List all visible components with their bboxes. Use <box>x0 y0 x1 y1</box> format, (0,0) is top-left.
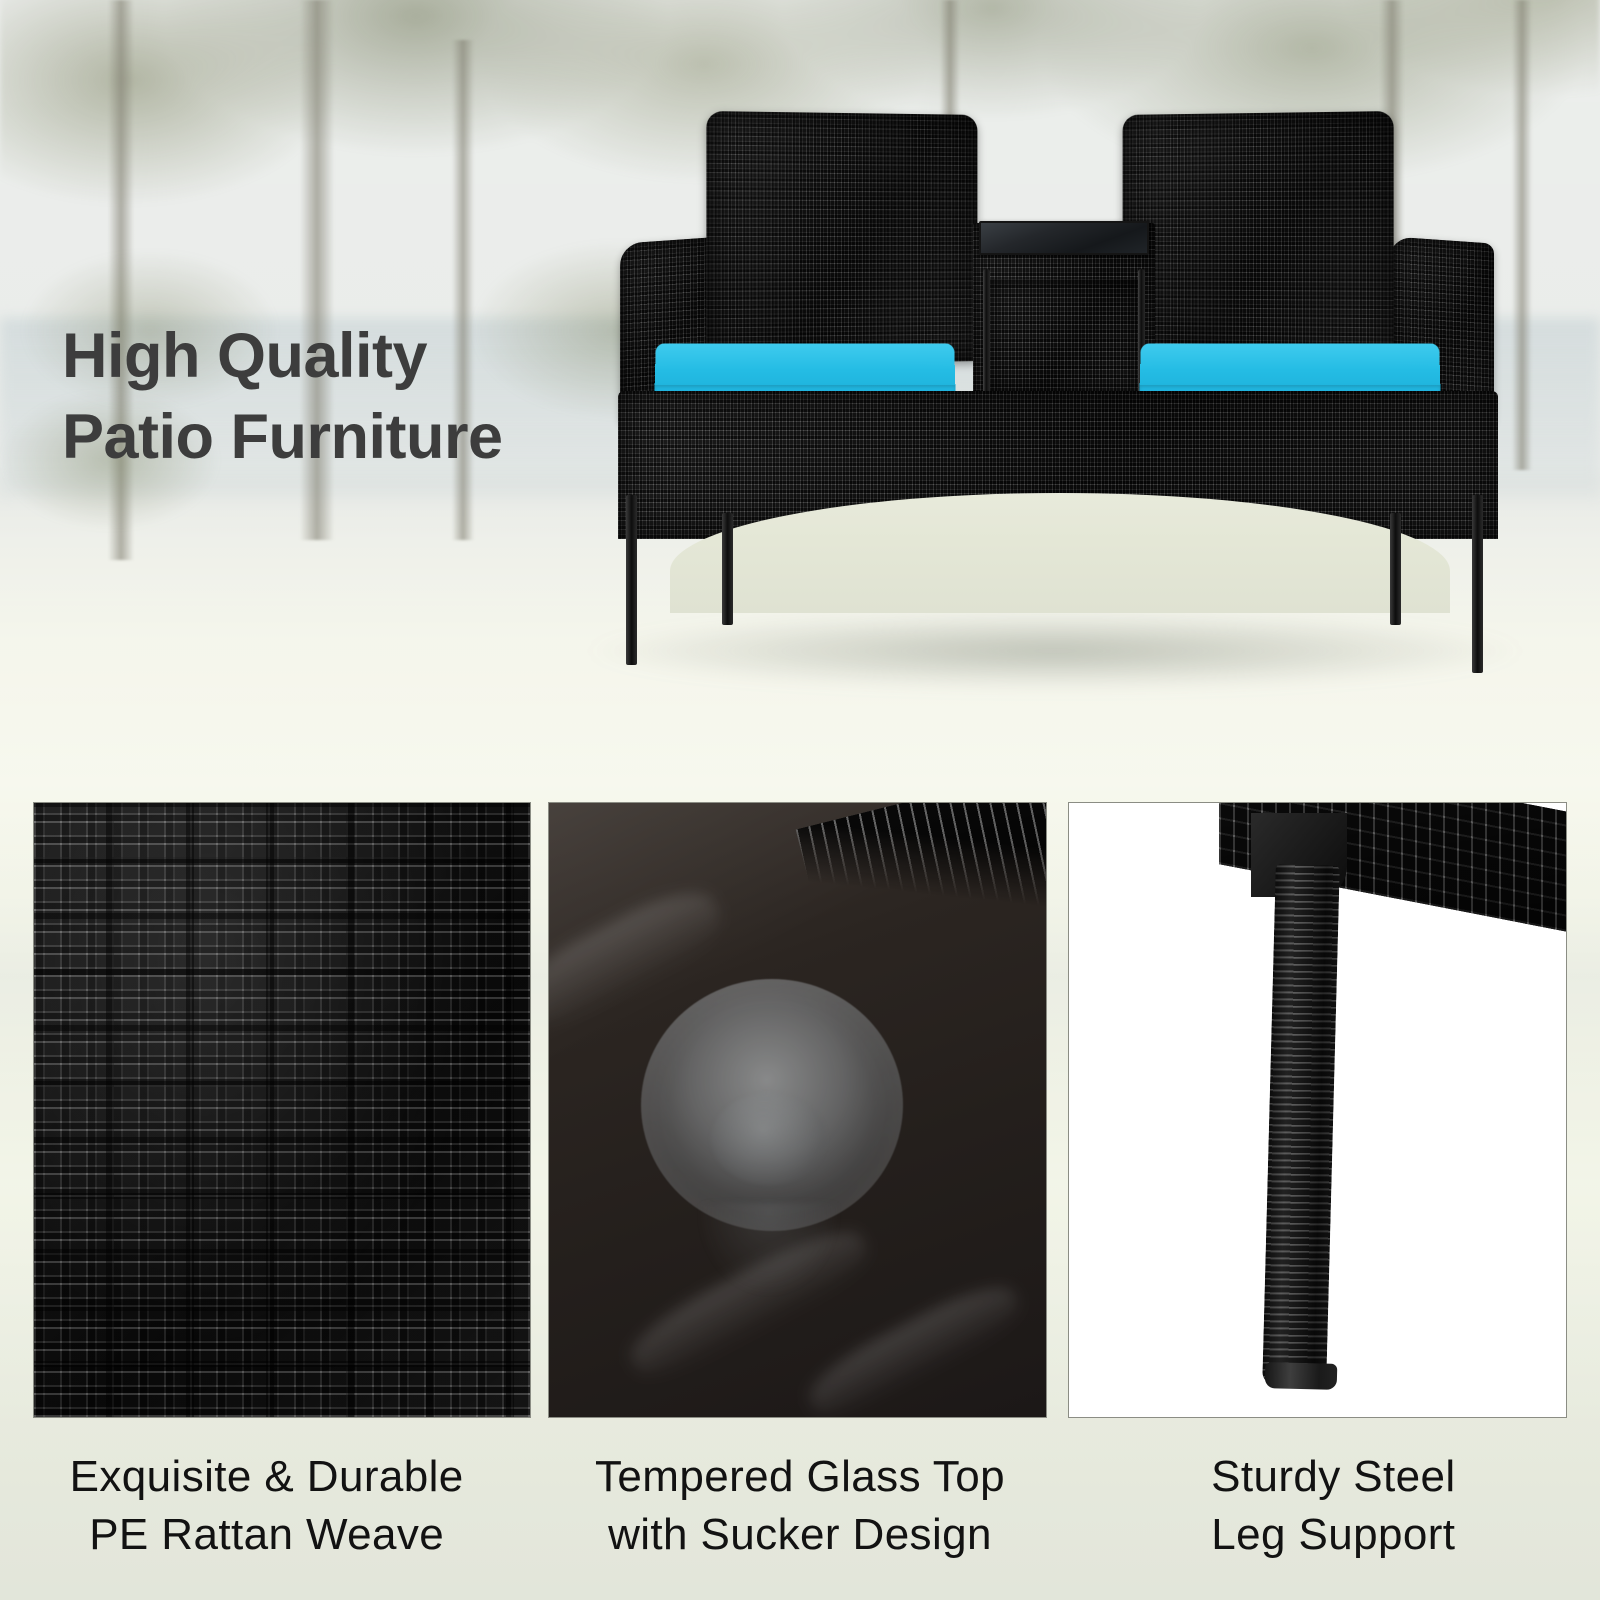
feature-panel-pe-rattan-weave <box>33 802 531 1418</box>
inner-left-leg <box>722 513 733 625</box>
feature-panel-tempered-glass-top <box>548 802 1047 1418</box>
cushion-top-face <box>655 343 956 389</box>
tempered-glass-tabletop <box>979 221 1149 255</box>
front-right-leg <box>1472 495 1483 673</box>
suction-cup-center <box>711 1093 827 1185</box>
caption-line-2: Leg Support <box>1067 1506 1600 1564</box>
caption-pe-rattan-weave: Exquisite & Durable PE Rattan Weave <box>0 1448 533 1588</box>
hero-product-image <box>600 95 1500 675</box>
headline-line-1: High Quality <box>62 316 682 397</box>
inner-right-leg <box>1390 513 1401 625</box>
tree-trunk <box>1512 0 1532 470</box>
front-left-leg <box>626 495 637 665</box>
cushion-top-face <box>1140 343 1441 389</box>
center-console-table <box>973 223 1155 403</box>
caption-line-1: Tempered Glass Top <box>533 1448 1066 1506</box>
right-seat-back <box>1123 111 1394 365</box>
caption-line-1: Sturdy Steel <box>1067 1448 1600 1506</box>
feature-captions: Exquisite & Durable PE Rattan Weave Temp… <box>0 1448 1600 1588</box>
console-post <box>983 269 990 399</box>
caption-line-1: Exquisite & Durable <box>0 1448 533 1506</box>
rattan-weave-closeup-image <box>34 803 530 1417</box>
left-seat-back <box>706 111 977 365</box>
feature-panel-steel-leg-support <box>1068 802 1567 1418</box>
headline-line-2: Patio Furniture <box>62 397 682 478</box>
leg-foot-cap <box>1265 1362 1338 1390</box>
caption-steel-leg-support: Sturdy Steel Leg Support <box>1067 1448 1600 1588</box>
console-shelf <box>987 279 1141 397</box>
page-title: High Quality Patio Furniture <box>62 316 682 477</box>
suction-cup-stem <box>699 1203 839 1295</box>
steel-leg-closeup-image <box>1262 864 1340 1385</box>
caption-line-2: with Sucker Design <box>533 1506 1066 1564</box>
feature-panel-row <box>0 802 1600 1418</box>
caption-tempered-glass-top: Tempered Glass Top with Sucker Design <box>533 1448 1066 1588</box>
caption-line-2: PE Rattan Weave <box>0 1506 533 1564</box>
